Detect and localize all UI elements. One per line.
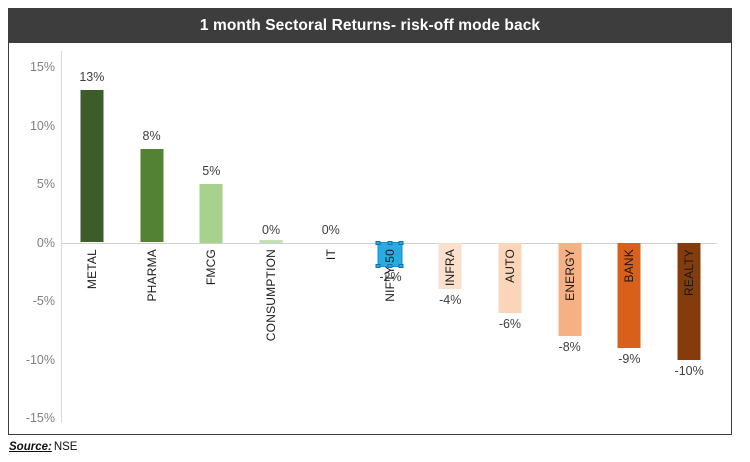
bar-value-label: 13% bbox=[79, 70, 104, 84]
selection-handle-icon[interactable] bbox=[376, 264, 381, 268]
bar-group[interactable]: 13%METAL bbox=[62, 43, 122, 434]
bar-value-label: -8% bbox=[559, 340, 581, 354]
bar-group[interactable]: -10%REALTY bbox=[659, 43, 719, 434]
y-axis-tick-label: 5% bbox=[37, 177, 55, 191]
plot-area: 15%10%5%0%-5%-10%-15% 13%METAL8%PHARMA5%… bbox=[9, 43, 731, 434]
x-axis-category-label: REALTY bbox=[682, 249, 696, 296]
source-label: Source: bbox=[9, 441, 52, 453]
x-axis-category-label: NIFTY 50 bbox=[383, 249, 397, 302]
bar-group[interactable]: 8%PHARMA bbox=[122, 43, 182, 434]
y-axis-tick-label: -5% bbox=[33, 294, 55, 308]
selection-handle-icon[interactable] bbox=[387, 241, 392, 245]
selection-handle-icon[interactable] bbox=[376, 241, 381, 245]
y-axis-tick-label: 0% bbox=[37, 236, 55, 250]
source-note: Source:NSE bbox=[9, 441, 77, 453]
source-value: NSE bbox=[52, 441, 78, 453]
selection-handle-icon[interactable] bbox=[399, 241, 404, 245]
bar-value-label: -6% bbox=[499, 317, 521, 331]
y-axis-tick-label: 10% bbox=[30, 119, 55, 133]
x-axis-category-label: IT bbox=[324, 249, 338, 260]
y-axis-tick-label: -10% bbox=[26, 353, 55, 367]
page-title: 1 month Sectoral Returns- risk-off mode … bbox=[200, 17, 540, 35]
bar-group[interactable]: 0%IT bbox=[301, 43, 361, 434]
bar-group[interactable]: 0%CONSUMPTION bbox=[241, 43, 301, 434]
bar-value-label: 5% bbox=[202, 164, 220, 178]
bar[interactable] bbox=[140, 149, 163, 243]
bar-group[interactable]: -2%NIFTY 50 bbox=[361, 43, 421, 434]
bar-group[interactable]: -6%AUTO bbox=[480, 43, 540, 434]
x-axis-category-label: CONSUMPTION bbox=[264, 249, 278, 341]
bar[interactable] bbox=[260, 240, 283, 243]
y-axis-tick-label: 15% bbox=[30, 60, 55, 74]
bar-value-label: -10% bbox=[675, 364, 704, 378]
bar[interactable] bbox=[200, 184, 223, 243]
chart-title-bar: 1 month Sectoral Returns- risk-off mode … bbox=[9, 9, 731, 43]
bar[interactable] bbox=[80, 90, 103, 242]
x-axis-category-label: METAL bbox=[85, 249, 99, 289]
chart-card: 1 month Sectoral Returns- risk-off mode … bbox=[8, 8, 732, 435]
selection-handle-icon[interactable] bbox=[399, 264, 404, 268]
x-axis-category-label: BANK bbox=[622, 249, 636, 282]
bar-group[interactable]: -4%INFRA bbox=[420, 43, 480, 434]
bar-value-label: 0% bbox=[322, 223, 340, 237]
x-axis-category-label: PHARMA bbox=[145, 249, 159, 302]
chart-screenshot: 1 month Sectoral Returns- risk-off mode … bbox=[0, 0, 750, 462]
bar-value-label: -4% bbox=[439, 293, 461, 307]
bar-value-label: -9% bbox=[618, 352, 640, 366]
bar-group[interactable]: 5%FMCG bbox=[181, 43, 241, 434]
y-axis: 15%10%5%0%-5%-10%-15% bbox=[9, 43, 61, 434]
bar-group[interactable]: -9%BANK bbox=[600, 43, 660, 434]
bar-value-label: 0% bbox=[262, 223, 280, 237]
x-axis-category-label: FMCG bbox=[204, 249, 218, 285]
x-axis-category-label: ENERGY bbox=[563, 249, 577, 301]
bar-value-label: 8% bbox=[143, 129, 161, 143]
bars-container: 13%METAL8%PHARMA5%FMCG0%CONSUMPTION0%IT-… bbox=[62, 43, 717, 434]
x-axis-category-label: INFRA bbox=[443, 249, 457, 286]
y-axis-tick-label: -15% bbox=[26, 411, 55, 425]
bar-group[interactable]: -8%ENERGY bbox=[540, 43, 600, 434]
x-axis-category-label: AUTO bbox=[503, 249, 517, 283]
